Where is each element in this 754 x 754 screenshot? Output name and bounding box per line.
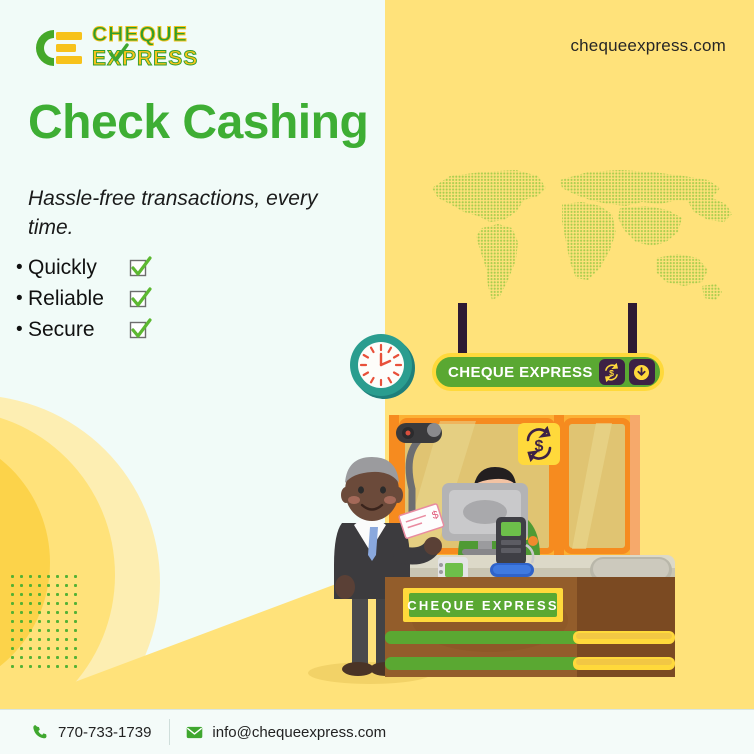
hanging-shop-sign: CHEQUE EXPRESS $: [432, 303, 682, 393]
sign-rod-right: [628, 303, 637, 358]
sign-badge-exchange: $: [599, 359, 625, 385]
bullet-glyph: •: [16, 289, 28, 308]
sign-board: CHEQUE EXPRESS $: [432, 353, 664, 391]
checkbox-checked-icon: [128, 256, 152, 280]
bullet-glyph: •: [16, 320, 28, 339]
list-item: • Secure: [16, 314, 152, 345]
brand-logo-line2: EXPRESS: [92, 48, 198, 69]
footer-phone-text: 770-733-1739: [58, 724, 151, 741]
contact-footer: 770-733-1739 info@chequeexpress.com: [0, 709, 754, 754]
teller-booth-illustration: $: [290, 405, 710, 695]
footer-phone[interactable]: 770-733-1739: [32, 724, 151, 741]
list-item: • Reliable: [16, 283, 152, 314]
check-mark-icon: [108, 43, 130, 65]
sign-badge-group: $: [599, 359, 655, 385]
page-subtitle: Hassle-free transactions, every time.: [28, 185, 348, 243]
feature-list: • Quickly • Reliable • Secure: [16, 252, 152, 345]
checkbox-checked-icon: [128, 287, 152, 311]
sign-rod-left: [458, 303, 467, 358]
svg-text:$: $: [609, 368, 614, 378]
feature-label: Reliable: [28, 287, 120, 311]
poster: CHEQUE EXPRESS chequeexpress.com Check C…: [0, 0, 754, 754]
dotted-world-map-icon: [420, 150, 750, 315]
checkbox-checked-icon: [128, 318, 152, 342]
decor-dot-grid: [8, 572, 80, 674]
phone-icon: [32, 724, 49, 741]
list-item: • Quickly: [16, 252, 152, 283]
feature-label: Quickly: [28, 256, 120, 280]
footer-email[interactable]: info@chequeexpress.com: [186, 724, 386, 741]
envelope-icon: [186, 724, 203, 741]
feature-label: Secure: [28, 318, 120, 342]
wall-clock-icon: [343, 330, 421, 402]
ce-monogram-icon: [26, 26, 88, 70]
website-url[interactable]: chequeexpress.com: [570, 36, 726, 56]
footer-divider: [169, 719, 170, 745]
brand-logo-text: CHEQUE EXPRESS: [92, 24, 198, 69]
svg-text:$: $: [535, 438, 544, 455]
bullet-glyph: •: [16, 258, 28, 277]
currency-exchange-icon: $: [602, 363, 621, 382]
sign-badge-download: [629, 359, 655, 385]
download-arrow-icon: [632, 363, 651, 382]
counter-sign-text: CHEQUE EXPRESS: [407, 598, 558, 613]
sign-board-text: CHEQUE EXPRESS: [448, 364, 593, 381]
footer-email-text: info@chequeexpress.com: [212, 724, 386, 741]
page-title: Check Cashing: [28, 98, 368, 148]
brand-logo-line1: CHEQUE: [92, 24, 198, 45]
brand-logo[interactable]: CHEQUE EXPRESS: [26, 22, 201, 74]
